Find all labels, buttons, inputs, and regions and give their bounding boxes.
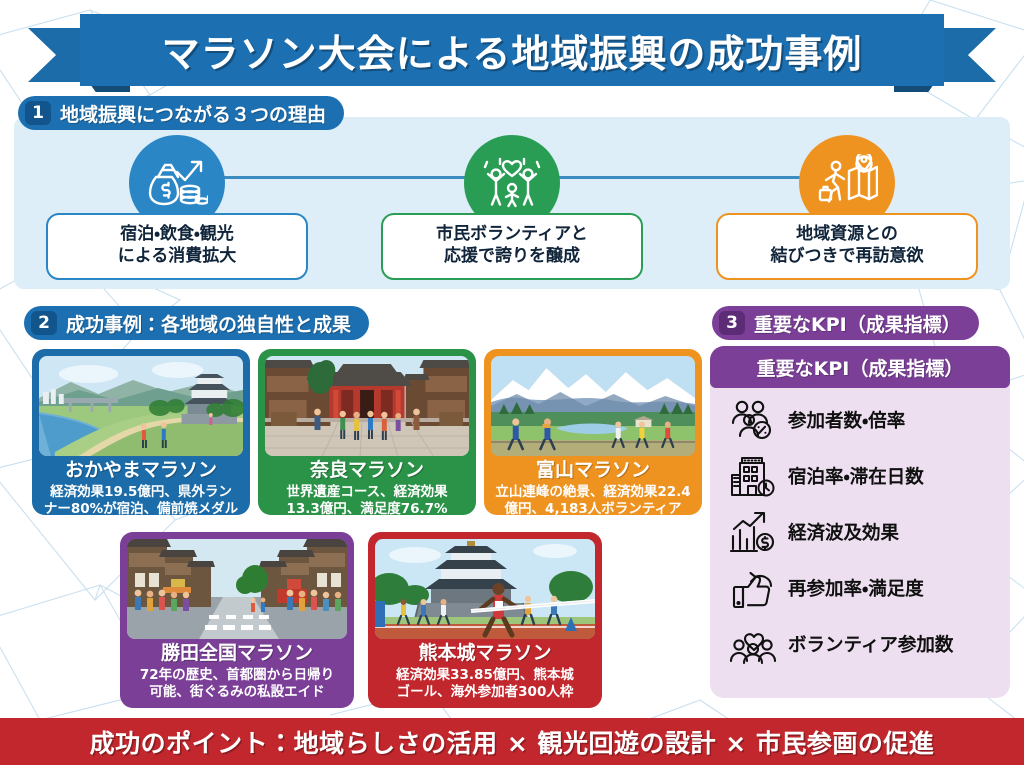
thumbs-up-repeat-icon xyxy=(726,565,780,611)
section3-title: 重要なKPI（成果指標） xyxy=(754,310,961,337)
reason-card-consumption[interactable]: 宿泊・飲食・観光 による消費拡大 xyxy=(46,135,308,280)
kpi-label-lodging: 宿泊率・滞在日数 xyxy=(788,463,924,489)
case-desc-toyama: 立山連峰の絶景、経済効果22.4 億円、4,183人ボランティア xyxy=(491,484,695,519)
section1-number-badge: 1 xyxy=(25,101,51,125)
kpi-list: 参加者数・倍率 宿泊率・滞在日数 xyxy=(710,392,1010,672)
case-desc-okayama: 経済効果19.5億円、県外ラン ナー80%が宿泊、備前焼メダル xyxy=(39,484,243,519)
header-ribbon: マラソン大会による地域振興の成功事例 xyxy=(0,6,1024,94)
case-thumbnail-nara xyxy=(265,356,469,456)
kpi-label-volunteers: ボランティア参加数 xyxy=(788,631,953,657)
reason-label-box-consumption: 宿泊・飲食・観光 による消費拡大 xyxy=(46,213,308,280)
section3-number-badge: 3 xyxy=(719,311,745,335)
kpi-panel-title: 重要なKPI（成果指標） xyxy=(757,354,964,381)
kpi-label-participants: 参加者数・倍率 xyxy=(788,407,905,433)
kpi-label-economic: 経済波及効果 xyxy=(788,519,899,545)
people-heart-icon xyxy=(726,621,780,667)
section2-title: 成功事例：各地域の独自性と成果 xyxy=(66,310,351,337)
footer-text: 成功のポイント：地域らしさの活用 × 観光回遊の設計 × 市民参画の促進 xyxy=(90,724,935,760)
case-name-katsuta: 勝田全国マラソン xyxy=(127,643,347,665)
reason-label-box-volunteers: 市民ボランティアと 応援で誇りを醸成 xyxy=(381,213,643,280)
case-desc-kumamoto: 経済効果33.85億円、熊本城 ゴール、海外参加者300人枠 xyxy=(375,667,595,702)
case-name-toyama: 富山マラソン xyxy=(491,460,695,482)
footer-banner: 成功のポイント：地域らしさの活用 × 観光回遊の設計 × 市民参画の促進 xyxy=(0,718,1024,765)
people-percent-icon xyxy=(726,397,780,443)
case-card-toyama[interactable]: 富山マラソン 立山連峰の絶景、経済効果22.4 億円、4,183人ボランティア xyxy=(484,349,702,515)
kpi-item-participants[interactable]: 参加者数・倍率 xyxy=(710,392,1010,448)
reason-text-revisit: 地域資源との 結びつきで再訪意欲 xyxy=(724,224,970,268)
section2-header: 2 成功事例：各地域の独自性と成果 xyxy=(24,306,369,340)
case-card-kumamoto[interactable]: 熊本城マラソン 経済効果33.85億円、熊本城 ゴール、海外参加者300人枠 xyxy=(368,532,602,708)
case-thumbnail-okayama xyxy=(39,356,243,456)
section2-number-badge: 2 xyxy=(31,311,57,335)
section3-header: 3 重要なKPI（成果指標） xyxy=(712,306,979,340)
case-name-nara: 奈良マラソン xyxy=(265,460,469,482)
kpi-label-repeat: 再参加率・満足度 xyxy=(788,575,924,601)
kpi-item-volunteers[interactable]: ボランティア参加数 xyxy=(710,616,1010,672)
kpi-panel-title-bar: 重要なKPI（成果指標） xyxy=(710,346,1010,388)
reason-text-volunteers: 市民ボランティアと 応援で誇りを醸成 xyxy=(389,224,635,268)
case-card-okayama[interactable]: おかやまマラソン 経済効果19.5億円、県外ラン ナー80%が宿泊、備前焼メダル xyxy=(32,349,250,515)
reason-card-revisit[interactable]: 地域資源との 結びつきで再訪意欲 xyxy=(716,135,978,280)
reason-label-box-revisit: 地域資源との 結びつきで再訪意欲 xyxy=(716,213,978,280)
case-desc-nara: 世界遺産コース、経済効果 13.3億円、満足度76.7% xyxy=(265,484,469,519)
infographic-canvas: マラソン大会による地域振興の成功事例 1 地域振興につながる３つの理由 xyxy=(0,0,1024,765)
case-desc-katsuta: 72年の歴史、首都圏から日帰り 可能、街ぐるみの私設エイド xyxy=(127,667,347,702)
page-title: マラソン大会による地域振興の成功事例 xyxy=(162,23,863,78)
case-name-kumamoto: 熊本城マラソン xyxy=(375,643,595,665)
case-card-katsuta[interactable]: 勝田全国マラソン 72年の歴史、首都圏から日帰り 可能、街ぐるみの私設エイド xyxy=(120,532,354,708)
reason-text-consumption: 宿泊・飲食・観光 による消費拡大 xyxy=(54,224,300,268)
case-name-okayama: おかやまマラソン xyxy=(39,460,243,482)
hotel-clock-icon xyxy=(726,453,780,499)
kpi-item-lodging[interactable]: 宿泊率・滞在日数 xyxy=(710,448,1010,504)
ribbon-banner: マラソン大会による地域振興の成功事例 xyxy=(80,14,944,86)
case-thumbnail-kumamoto xyxy=(375,539,595,639)
section1-title: 地域振興につながる３つの理由 xyxy=(60,100,326,127)
section1-header: 1 地域振興につながる３つの理由 xyxy=(18,96,344,130)
chart-growth-dollar-icon xyxy=(726,509,780,555)
kpi-item-repeat[interactable]: 再参加率・満足度 xyxy=(710,560,1010,616)
reason-card-volunteers[interactable]: 市民ボランティアと 応援で誇りを醸成 xyxy=(381,135,643,280)
case-thumbnail-toyama xyxy=(491,356,695,456)
case-card-nara[interactable]: 奈良マラソン 世界遺産コース、経済効果 13.3億円、満足度76.7% xyxy=(258,349,476,515)
case-thumbnail-katsuta xyxy=(127,539,347,639)
kpi-item-economic[interactable]: 経済波及効果 xyxy=(710,504,1010,560)
